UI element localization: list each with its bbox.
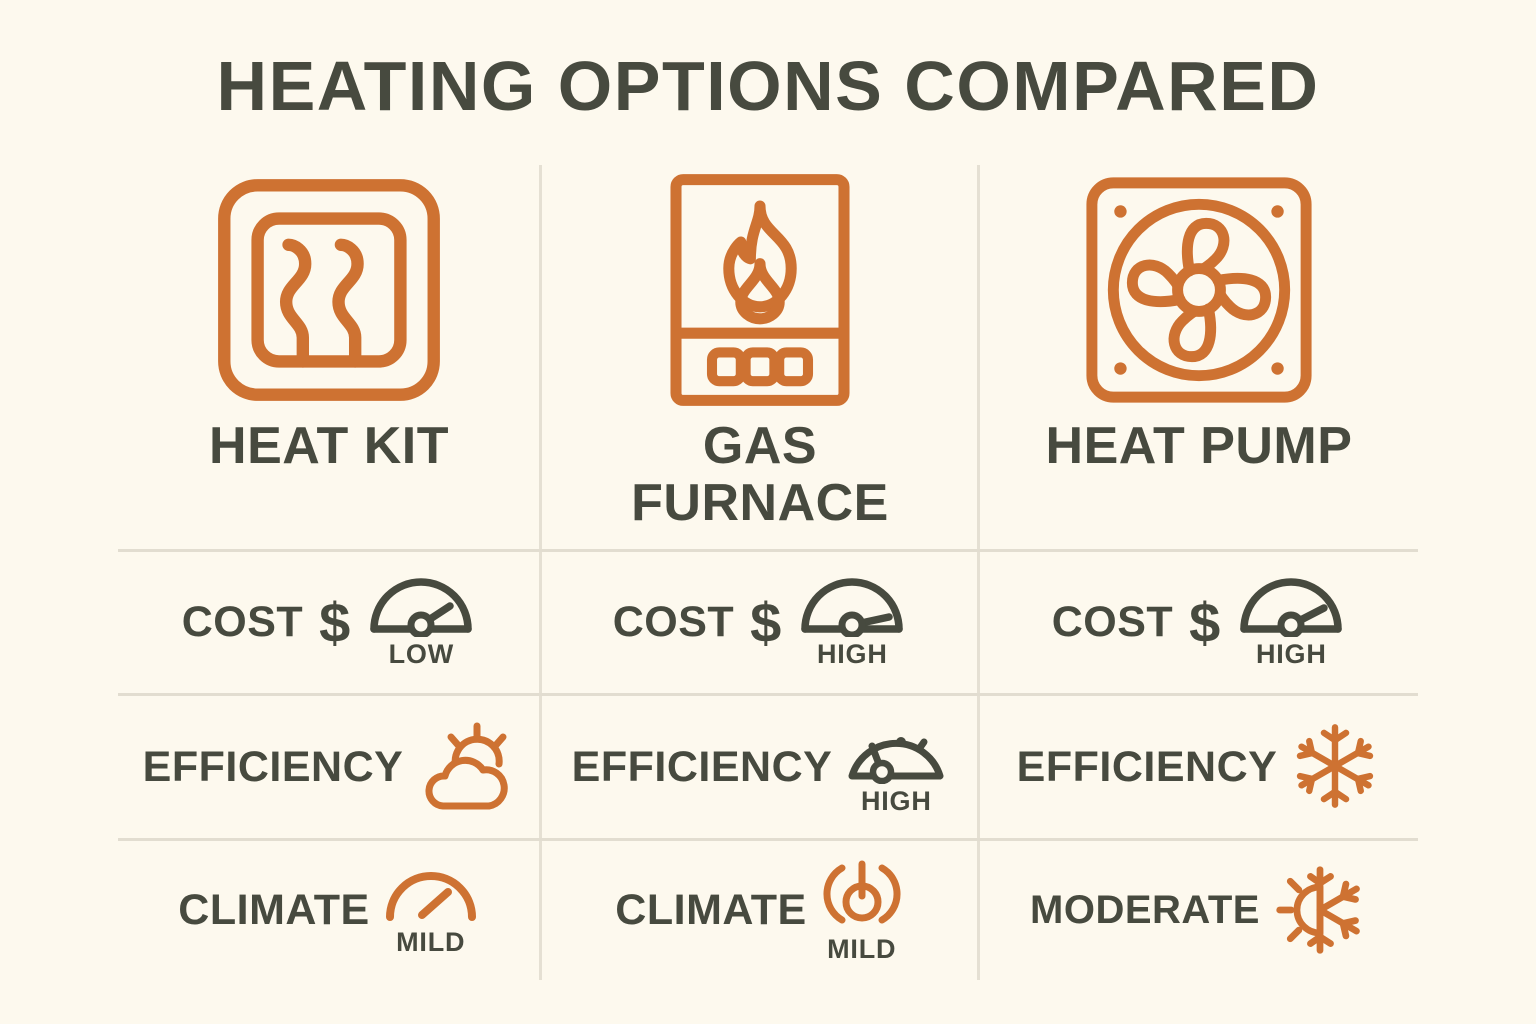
column-gas-furnace: GAS FURNACE COST $ — [542, 165, 978, 980]
attribute-value-cost: HIGH — [817, 639, 888, 670]
column-header-heat-pump: HEAT PUMP — [980, 165, 1418, 549]
attribute-value-efficiency: HIGH — [861, 786, 932, 817]
column-heat-kit: HEAT KIT COST $ — [118, 165, 540, 980]
attribute-label-cost: COST — [182, 598, 303, 647]
attribute-cost-gas-furnace: COST $ HIGH — [542, 552, 978, 693]
gas-furnace-icon — [666, 170, 854, 410]
attribute-efficiency-heat-kit: EFFICIENCY — [118, 696, 540, 838]
heat-kit-icon — [210, 170, 448, 410]
column-header-heat-kit: HEAT KIT — [118, 165, 540, 549]
attribute-value-climate: MILD — [827, 934, 896, 965]
column-label-heat-kit: HEAT KIT — [209, 418, 449, 475]
gauge-dial-icon — [844, 718, 948, 784]
gauge-low-icon — [366, 575, 476, 637]
dollar-sign-icon: $ — [1189, 590, 1220, 655]
page-title: HEATING OPTIONS COMPARED — [0, 46, 1536, 126]
heat-pump-icon — [1080, 170, 1318, 410]
attribute-climate-heat-pump: MODERATE — [980, 841, 1418, 980]
column-label-gas-furnace: GAS FURNACE — [631, 418, 889, 532]
dollar-sign-icon: $ — [319, 590, 350, 655]
attribute-climate-gas-furnace: CLIMATE MILD — [542, 841, 978, 980]
dollar-sign-icon: $ — [750, 590, 781, 655]
attribute-label-climate: CLIMATE — [178, 886, 369, 935]
attribute-label-climate: MODERATE — [1030, 888, 1260, 933]
attribute-label-cost: COST — [613, 598, 734, 647]
attribute-label-climate: CLIMATE — [615, 886, 806, 935]
attribute-efficiency-gas-furnace: EFFICIENCY HIGH — [542, 696, 978, 838]
column-heat-pump: HEAT PUMP COST $ — [980, 165, 1418, 980]
attribute-cost-heat-kit: COST $ LOW — [118, 552, 540, 693]
sun-snowflake-icon — [1272, 862, 1368, 958]
attribute-value-climate: MILD — [396, 927, 465, 958]
gauge-high-icon — [797, 575, 907, 637]
attribute-climate-heat-kit: CLIMATE MILD — [118, 841, 540, 980]
column-header-gas-furnace: GAS FURNACE — [542, 165, 978, 549]
snowflake-icon — [1289, 720, 1381, 812]
gauge-arc-icon — [382, 863, 480, 925]
attribute-value-cost: LOW — [389, 639, 454, 670]
attribute-label-efficiency: EFFICIENCY — [572, 743, 833, 792]
attribute-label-efficiency: EFFICIENCY — [143, 743, 404, 792]
column-label-heat-pump: HEAT PUMP — [1046, 418, 1353, 475]
thermostat-power-icon — [819, 856, 905, 932]
attribute-value-cost: HIGH — [1256, 639, 1327, 670]
comparison-grid: HEAT KIT COST $ — [118, 165, 1418, 980]
attribute-label-cost: COST — [1052, 598, 1173, 647]
attribute-efficiency-heat-pump: EFFICIENCY — [980, 696, 1418, 838]
attribute-cost-heat-pump: COST $ HIGH — [980, 552, 1418, 693]
heating-comparison-infographic: HEATING OPTIONS COMPARED HEAT KIT — [0, 0, 1536, 1024]
gauge-high-icon — [1236, 575, 1346, 637]
attribute-label-efficiency: EFFICIENCY — [1017, 743, 1278, 792]
sun-cloud-icon — [415, 720, 515, 812]
